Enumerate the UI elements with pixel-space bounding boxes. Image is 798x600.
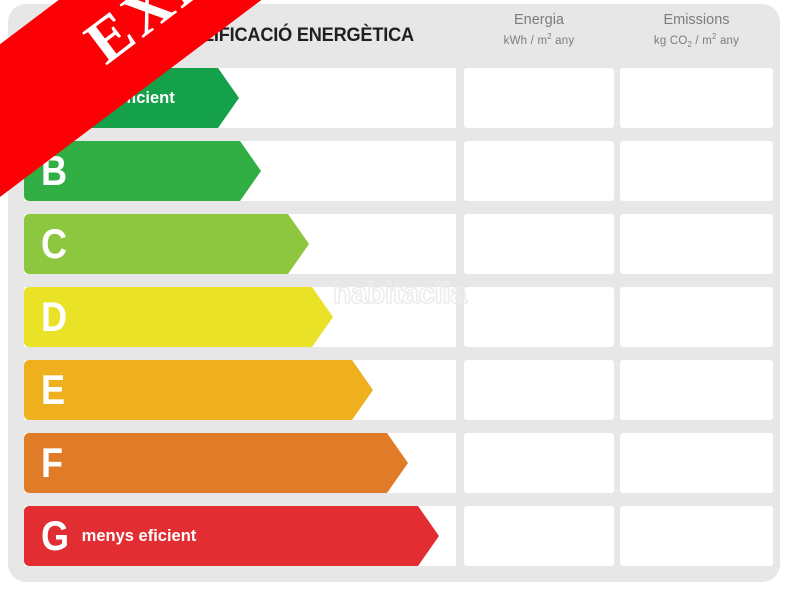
rating-row-e: E — [0, 360, 798, 420]
rating-caption-a: més eficient — [79, 89, 174, 108]
rating-row-g: Gmenys eficient — [0, 506, 798, 566]
emissions-value-cell-d — [620, 287, 773, 347]
rating-row-f: F — [0, 433, 798, 493]
rating-row-a: Amés eficient — [0, 68, 798, 128]
energy-value-cell-g — [464, 506, 614, 566]
energy-value-cell-f — [464, 433, 614, 493]
rating-letter-c: C — [41, 223, 67, 265]
emissions-value-cell-g — [620, 506, 773, 566]
rating-letter-g: G — [41, 515, 69, 557]
rating-band-c: C — [24, 214, 288, 274]
rating-band-f: F — [24, 433, 387, 493]
rating-band-d: D — [24, 287, 312, 347]
rating-letter-b: B — [41, 150, 67, 192]
rating-row-c: C — [0, 214, 798, 274]
rating-band-arrow-tip — [387, 433, 408, 493]
rating-caption-g: menys eficient — [82, 527, 197, 546]
rating-band-g: Gmenys eficient — [24, 506, 418, 566]
rating-band-arrow-tip — [352, 360, 373, 420]
rating-row-d: D — [0, 287, 798, 347]
rating-letter-d: D — [41, 296, 67, 338]
rating-letter-a: A — [41, 77, 67, 119]
emissions-value-cell-b — [620, 141, 773, 201]
rating-band-arrow-tip — [288, 214, 309, 274]
emissions-value-cell-a — [620, 68, 773, 128]
emissions-value-cell-c — [620, 214, 773, 274]
energy-certificate-image: ESCALA DE LA QUALIFICACIÓ ENERGÈTICA Ene… — [0, 0, 798, 600]
rating-band-e: E — [24, 360, 352, 420]
rating-letter-e: E — [41, 369, 65, 411]
rating-band-arrow-tip — [312, 287, 333, 347]
energy-value-cell-c — [464, 214, 614, 274]
rating-band-b: B — [24, 141, 240, 201]
rating-band-arrow-tip — [240, 141, 261, 201]
emissions-value-cell-f — [620, 433, 773, 493]
rating-rows: Amés eficientBCDEFGmenys eficient — [0, 0, 798, 600]
rating-band-arrow-tip — [218, 68, 239, 128]
rating-band-a: Amés eficient — [24, 68, 218, 128]
energy-value-cell-d — [464, 287, 614, 347]
rating-letter-f: F — [41, 442, 63, 484]
rating-row-b: B — [0, 141, 798, 201]
energy-value-cell-a — [464, 68, 614, 128]
emissions-value-cell-e — [620, 360, 773, 420]
energy-value-cell-e — [464, 360, 614, 420]
rating-band-arrow-tip — [418, 506, 439, 566]
energy-value-cell-b — [464, 141, 614, 201]
